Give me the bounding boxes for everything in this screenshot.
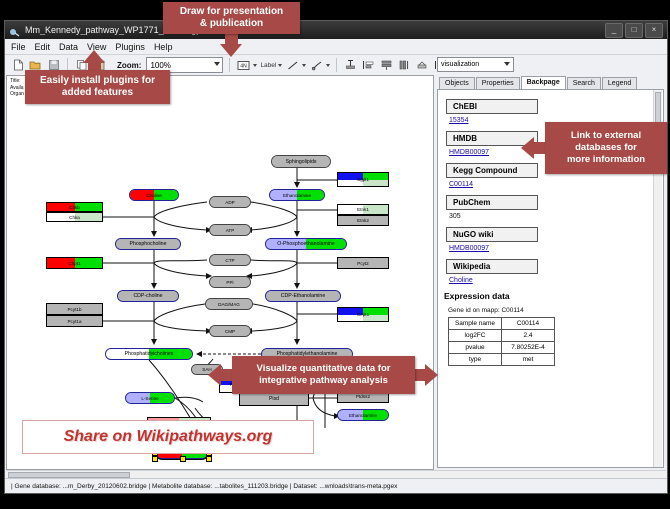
- node-label: Phosphatidylcholines: [125, 351, 174, 357]
- selection-handle[interactable]: [152, 456, 158, 462]
- node-label: ATP: [226, 228, 235, 233]
- pathway-nodes: SphingolipidsCholineEthanolamineADPATPPh…: [7, 76, 433, 469]
- table-row: Sample nameC00114: [449, 318, 555, 330]
- toolbar-separator: [336, 58, 337, 72]
- line-icon: [285, 58, 300, 73]
- maximize-button[interactable]: □: [625, 23, 643, 38]
- node-label: Chkb: [69, 205, 80, 210]
- share-banner-text: Share on Wikipathways.org: [64, 428, 273, 446]
- callout-link-line1: Link to external: [571, 130, 641, 142]
- callout-draw-line1: Draw for presentation: [180, 6, 283, 18]
- zoom-value: 100%: [150, 61, 170, 70]
- db-name-pubchem: PubChem: [446, 195, 538, 210]
- metabolite-node-adp[interactable]: ADP: [209, 196, 251, 208]
- callout-draw-arrow-icon: [220, 44, 242, 57]
- datanode-icon: 4N: [236, 58, 251, 73]
- expression-table-body: Sample nameC00114log2FC2.4pvalue7.80252E…: [449, 318, 555, 366]
- metabolite-node-sphingolipids[interactable]: Sphingolipids: [271, 155, 331, 168]
- db-name-kegg: Kegg Compound: [446, 163, 538, 178]
- node-label: Chpt1: [68, 261, 80, 266]
- align-rows-icon[interactable]: [379, 58, 394, 73]
- anchor-tool[interactable]: [309, 58, 330, 73]
- share-banner: Share on Wikipathways.org: [22, 420, 314, 454]
- metabolite-node-cdp-choline[interactable]: CDP-choline: [117, 290, 179, 302]
- callout-plugins: Easily install plugins for added feature…: [25, 70, 170, 104]
- table-cell-value: 7.80252E-4: [502, 342, 555, 354]
- metabolite-node-ctp[interactable]: CTP: [209, 254, 251, 266]
- table-cell-key: pvalue: [449, 342, 502, 354]
- tab-backpage[interactable]: Backpage: [521, 76, 566, 89]
- panel-tabs: Objects Properties Backpage Search Legen…: [435, 75, 666, 89]
- gene-node-etnk2[interactable]: Etnk2: [337, 215, 389, 226]
- table-cell-value: C00114: [502, 318, 555, 330]
- callout-link: Link to external databases for more info…: [545, 122, 667, 174]
- db-link-nugo[interactable]: HMDB00097: [449, 245, 663, 252]
- gene-node-pcyt1b[interactable]: Pcyt1b: [46, 303, 103, 315]
- node-label: Sgpl1: [357, 177, 369, 182]
- db-value-pubchem: 305: [449, 213, 663, 220]
- chevron-down-icon: [278, 64, 282, 67]
- table-cell-key: Sample name: [449, 318, 502, 330]
- gene-node-etnk1[interactable]: Etnk1: [337, 204, 389, 215]
- svg-text:4N: 4N: [241, 63, 248, 69]
- table-row: pvalue7.80252E-4: [449, 342, 555, 354]
- zoom-label: Zoom:: [117, 61, 141, 70]
- gene-node-pcyt2[interactable]: Pcyt2: [337, 257, 389, 269]
- node-label: CTP: [225, 258, 234, 263]
- visualization-select[interactable]: visualization: [437, 57, 514, 72]
- node-label: PPi: [226, 280, 233, 285]
- chevron-down-icon: [504, 62, 510, 66]
- align-top-icon[interactable]: [343, 58, 358, 73]
- node-label: Phosphocholine: [130, 241, 167, 247]
- node-label: L-Serine: [141, 396, 158, 401]
- db-section-wikipedia: Wikipedia Choline: [446, 256, 663, 284]
- callout-link-arrow-icon: [521, 137, 534, 159]
- node-label: Chka: [69, 215, 80, 220]
- db-name-nugo: NuGO wiki: [446, 227, 538, 242]
- node-label: Pisd: [269, 396, 279, 402]
- table-cell-value: 2.4: [502, 330, 555, 342]
- node-label: CMP: [225, 329, 235, 334]
- node-label: O-Phosphoethanolamine: [277, 241, 334, 247]
- node-label: CDP-Ethanolamine: [281, 293, 325, 299]
- stack-icon[interactable]: [415, 58, 430, 73]
- node-label: Pcyt2: [357, 261, 369, 266]
- metabolite-node-l-serine-left[interactable]: L-Serine: [125, 392, 175, 404]
- tab-objects[interactable]: Objects: [439, 77, 475, 89]
- db-link-kegg[interactable]: C00114: [449, 181, 663, 188]
- minimize-button[interactable]: _: [605, 23, 623, 38]
- tab-legend[interactable]: Legend: [602, 77, 637, 89]
- metabolite-node-choline-top[interactable]: Choline: [129, 189, 179, 201]
- node-label: Ethanolamine: [283, 193, 311, 198]
- chevron-down-icon: [253, 64, 257, 67]
- align-columns-icon[interactable]: [397, 58, 412, 73]
- node-label: DAG/MAG: [218, 302, 240, 307]
- callout-plugins-line1: Easily install plugins for: [40, 75, 155, 87]
- callout-visualize-arrow-left-icon: [208, 364, 221, 386]
- table-cell-key: type: [449, 354, 502, 366]
- app-icon: [9, 25, 20, 36]
- chevron-down-icon: [326, 64, 330, 67]
- metabolite-node-ethanolamine-right[interactable]: Ethanolamine: [337, 409, 389, 421]
- align-left-icon[interactable]: [361, 58, 376, 73]
- node-label: CDP-choline: [133, 293, 162, 299]
- node-label: Etnk2: [357, 218, 369, 223]
- pathway-canvas[interactable]: Title: Availa Organ: [6, 75, 434, 470]
- toolbar-separator: [229, 58, 230, 72]
- statusbar-text: | Gene database: ...m_Derby_20120602.bri…: [11, 483, 397, 490]
- chevron-down-icon: [214, 62, 220, 66]
- table-cell-value: met: [502, 354, 555, 366]
- close-button[interactable]: ×: [645, 23, 663, 38]
- gene-node-chka[interactable]: Chka: [46, 212, 103, 222]
- node-label: Choline: [146, 193, 162, 198]
- new-file-icon[interactable]: [10, 58, 25, 73]
- label-tool-text: Label: [260, 62, 276, 69]
- expression-data-heading: Expression data: [444, 291, 663, 301]
- anchor-icon: [309, 58, 324, 73]
- statusbar: | Gene database: ...m_Derby_20120602.bri…: [5, 478, 667, 493]
- window-controls: _ □ ×: [605, 23, 663, 38]
- db-section-nugo: NuGO wiki HMDB00097: [446, 224, 663, 252]
- node-label: Ptdss2: [356, 394, 370, 399]
- gene-node-pcyt1a[interactable]: Pcyt1a: [46, 315, 103, 327]
- metabolite-node-ppi[interactable]: PPi: [209, 276, 251, 288]
- selection-handle[interactable]: [180, 456, 186, 462]
- tab-properties[interactable]: Properties: [476, 77, 520, 89]
- expression-table: Sample nameC00114log2FC2.4pvalue7.80252E…: [448, 317, 555, 366]
- gene-id-line: Gene id on mapp: C00114: [448, 307, 663, 314]
- table-cell-key: log2FC: [449, 330, 502, 342]
- metabolite-node-phosphocholine[interactable]: Phosphocholine: [115, 238, 181, 250]
- callout-link-line3: more information: [567, 154, 645, 166]
- callout-visualize-line1: Visualize quantitative data for: [257, 363, 391, 375]
- metabolite-node-dagmag[interactable]: DAG/MAG: [205, 298, 253, 310]
- menu-item-file[interactable]: File: [11, 42, 26, 52]
- node-label: ADP: [225, 200, 234, 205]
- callout-draw: Draw for presentation & publication: [163, 2, 300, 34]
- visualization-value: visualization: [441, 61, 479, 68]
- line-tool[interactable]: [285, 58, 306, 73]
- node-label: Cept1: [357, 312, 369, 317]
- label-tool[interactable]: Label: [260, 62, 282, 69]
- node-label: Ethanolamine: [349, 413, 377, 418]
- chevron-down-icon: [302, 64, 306, 67]
- metabolite-node-ethanolamine-top[interactable]: Ethanolamine: [269, 189, 325, 201]
- menu-item-data[interactable]: Data: [59, 42, 78, 52]
- window-titlebar: Mm_Kennedy_pathway_WP1771_45176.gpml _ □…: [5, 21, 667, 39]
- callout-visualize: Visualize quantitative data for integrat…: [232, 356, 415, 394]
- menu-item-plugins[interactable]: Plugins: [115, 42, 145, 52]
- tab-search[interactable]: Search: [567, 77, 601, 89]
- node-label: Pcyt1a: [67, 319, 81, 324]
- gene-node-sgpl1[interactable]: Sgpl1: [337, 172, 389, 187]
- callout-plugins-line2: added features: [62, 87, 133, 99]
- selection-handle[interactable]: [206, 456, 212, 462]
- gene-node-chpt1[interactable]: Chpt1: [46, 257, 103, 269]
- callout-plugins-arrow-icon: [83, 50, 105, 63]
- metabolite-node-cdp-ethanolamine[interactable]: CDP-Ethanolamine: [265, 290, 341, 302]
- node-label: Etnk1: [357, 207, 369, 212]
- gene-node-chkb[interactable]: Chkb: [46, 202, 103, 212]
- db-name-wikipedia: Wikipedia: [446, 259, 538, 274]
- menu-item-help[interactable]: Help: [154, 42, 173, 52]
- db-section-pubchem: PubChem 305: [446, 192, 663, 220]
- callout-visualize-line2: integrative pathway analysis: [259, 375, 388, 387]
- table-row: log2FC2.4: [449, 330, 555, 342]
- db-link-wikipedia[interactable]: Choline: [449, 277, 663, 284]
- metabolite-node-atp[interactable]: ATP: [209, 224, 251, 236]
- datanode-tool[interactable]: 4N: [236, 58, 257, 73]
- node-label: Pcyt1b: [67, 307, 81, 312]
- metabolite-node-cmp[interactable]: CMP: [209, 325, 251, 337]
- gene-node-cept1[interactable]: Cept1: [337, 307, 389, 322]
- db-section-chebi: ChEBI 15354: [446, 96, 663, 124]
- callout-link-line2: databases for: [575, 142, 637, 154]
- callout-draw-line2: & publication: [200, 18, 263, 30]
- db-name-chebi: ChEBI: [446, 99, 538, 114]
- table-row: typemet: [449, 354, 555, 366]
- scrollbar-thumb[interactable]: [655, 92, 661, 124]
- metabolite-node-o-phosphoethanolamine[interactable]: O-Phosphoethanolamine: [265, 238, 347, 250]
- node-label: Sphingolipids: [286, 159, 317, 165]
- callout-visualize-arrow-right-icon: [425, 364, 438, 386]
- metabolite-node-phosphatidylcholines[interactable]: Phosphatidylcholines: [105, 348, 193, 360]
- menu-item-edit[interactable]: Edit: [35, 42, 51, 52]
